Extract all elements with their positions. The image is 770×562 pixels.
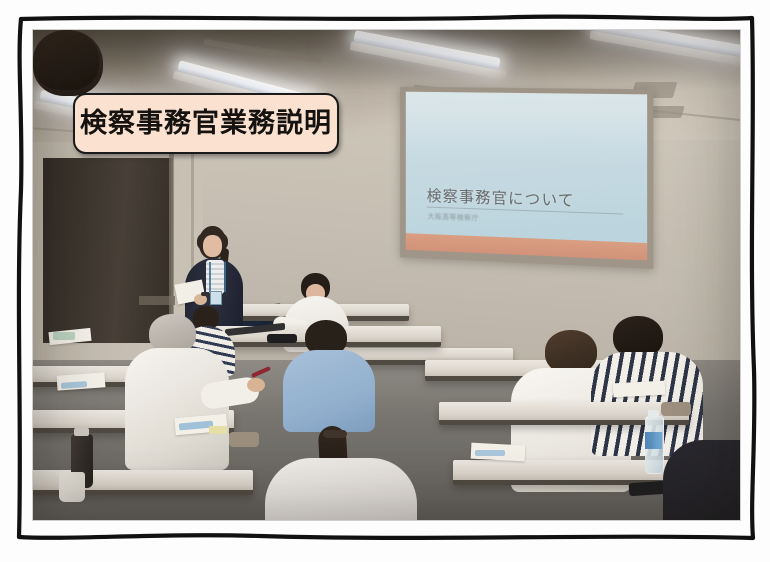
desk-item-yellow — [209, 426, 227, 434]
smartphone — [629, 481, 666, 496]
attendee-white-top — [265, 458, 417, 520]
slide-glare — [406, 92, 647, 166]
presenter-lanyard — [209, 262, 226, 292]
attendee-suit-body — [663, 440, 740, 520]
attendee-hand — [247, 378, 265, 392]
handout — [613, 381, 666, 398]
paper-cup — [59, 472, 85, 502]
caption-label-text: 検察事務官業務説明 — [80, 110, 332, 137]
slide-accent-band — [406, 233, 647, 260]
attendee-dark-suit — [33, 30, 99, 90]
desk-item-blue — [475, 450, 505, 456]
glasses-case — [661, 402, 691, 416]
projection-screen: 検察事務官について 大阪高等検察庁 — [400, 87, 653, 269]
water-bottle-cap — [648, 410, 659, 418]
presenter-wristwatch — [201, 292, 210, 296]
presenter-face — [203, 235, 222, 257]
presenter-remote — [267, 334, 297, 343]
glasses-case — [229, 432, 259, 447]
caption-label: 検察事務官業務説明 — [73, 93, 339, 154]
presentation-slide: 検察事務官について 大阪高等検察庁 — [406, 92, 647, 261]
attendee-white-shirt-body — [125, 348, 229, 470]
attendee-blue-shirt-body — [283, 350, 375, 432]
hair-tie — [323, 430, 347, 438]
thermos-cap — [74, 428, 89, 436]
attendee-hair — [33, 30, 99, 90]
room-door — [43, 158, 173, 343]
slide-subtitle: 大阪高等検察庁 — [428, 212, 479, 224]
screenshot-canvas: 検察事務官について 大阪高等検察庁 — [0, 0, 770, 562]
presenter-id-badge — [210, 291, 222, 305]
desk-item-green — [53, 332, 75, 340]
water-bottle-label — [645, 432, 662, 449]
